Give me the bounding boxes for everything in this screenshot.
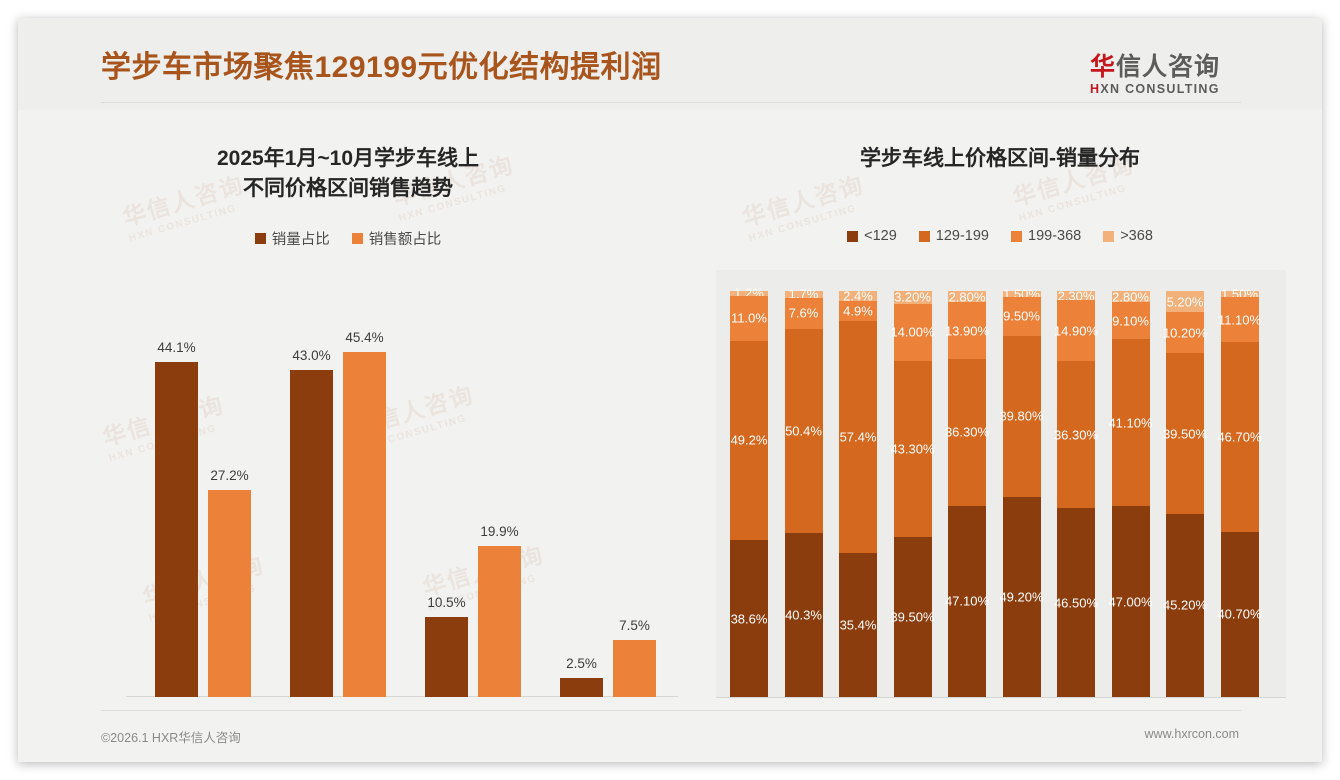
stacked-bar: 1.2%11.0%49.2%38.6%M1 — [730, 291, 768, 697]
bar-column: 7.5% — [613, 317, 656, 697]
stack-segment-label: 14.90% — [1054, 323, 1098, 338]
stack-segment[interactable]: 46.70% — [1221, 342, 1259, 532]
stack-segment-label: 39.50% — [890, 609, 934, 624]
stack-segment-label: 50.4% — [785, 424, 822, 439]
stack-segment[interactable]: 39.50% — [1166, 353, 1204, 513]
stack-segment[interactable]: 36.30% — [948, 359, 986, 506]
stack-segment-label: 41.10% — [1108, 415, 1152, 430]
bar-value-label: 10.5% — [427, 595, 465, 610]
slide-header: 学步车市场聚焦129199元优化结构提利润 华信人咨询 HXN CONSULTI… — [18, 18, 1322, 110]
stack-segment-label: 4.9% — [843, 303, 873, 318]
bar-value-label: 2.5% — [566, 656, 597, 671]
logo-chinese-name: 华信人咨询 — [1090, 54, 1260, 80]
bar-column: 10.5% — [425, 317, 468, 697]
stack-segment-label: 57.4% — [840, 429, 877, 444]
stacked-bar: 2.30%14.90%36.30%46.50%M7 — [1057, 291, 1095, 697]
bar-group: 2.5%7.5%>368（高价位） — [545, 317, 671, 697]
logo-english-name: HXN CONSULTING — [1090, 82, 1260, 96]
stack-segment[interactable]: 47.00% — [1112, 506, 1150, 697]
stack-segment[interactable]: 39.80% — [1003, 336, 1041, 498]
footer-divider — [101, 710, 1241, 711]
bar-value-label: 43.0% — [292, 348, 330, 363]
stack-segment[interactable]: 45.20% — [1166, 514, 1204, 697]
left-chart-title-line1: 2025年1月~10月学步车线上 — [217, 147, 479, 170]
stack-segment-label: 39.50% — [1163, 426, 1207, 441]
right-chart-title: 学步车线上价格区间-销量分布 — [678, 144, 1322, 174]
bar-value-label: 45.4% — [345, 330, 383, 345]
stack-segment[interactable]: 3.20% — [894, 291, 932, 304]
legend-item[interactable]: 销售额占比 — [352, 228, 442, 249]
stack-segment[interactable]: 2.30% — [1057, 291, 1095, 300]
legend-label: 199-368 — [1028, 228, 1081, 244]
stack-segment[interactable]: 46.50% — [1057, 508, 1095, 697]
stack-segment-label: 9.50% — [1003, 309, 1040, 324]
stacked-bar: 1.7%7.6%50.4%40.3%M2 — [785, 291, 823, 697]
stacked-bar: 3.20%14.00%43.30%39.50%M4 — [894, 291, 932, 697]
stack-segment[interactable]: 1.7% — [785, 291, 823, 298]
legend-item[interactable]: 129-199 — [919, 228, 989, 244]
legend-item[interactable]: 199-368 — [1011, 228, 1081, 244]
stack-segment-label: 10.20% — [1163, 325, 1207, 340]
logo-en-rest: XN CONSULTING — [1100, 82, 1219, 96]
stack-segment-label: 45.20% — [1163, 598, 1207, 613]
legend-label: 销售额占比 — [369, 228, 442, 249]
legend-item[interactable]: <129 — [847, 228, 897, 244]
bar-value-label: 19.9% — [480, 524, 518, 539]
stack-segment[interactable]: 13.90% — [948, 302, 986, 358]
stack-segment[interactable]: 5.20% — [1166, 291, 1204, 312]
stack-segment[interactable]: 14.90% — [1057, 300, 1095, 360]
stack-segment[interactable]: 11.0% — [730, 296, 768, 341]
stack-segment-label: 47.00% — [1108, 594, 1152, 609]
stack-segment[interactable]: 14.00% — [894, 304, 932, 361]
left-chart-plot: 44.1%27.2%<129（低价位）43.0%45.4%129-199（中低价… — [126, 270, 678, 710]
stack-segment-label: 36.30% — [945, 425, 989, 440]
bar-column: 27.2% — [208, 317, 251, 697]
bar[interactable] — [425, 617, 468, 697]
bar-column: 45.4% — [343, 317, 386, 697]
stacked-bar: 1.50%11.10%46.70%40.70%M10 — [1221, 291, 1259, 697]
bar-group: 10.5%19.9%199-368（中高价位） — [410, 317, 536, 697]
logo-cn-red: 华 — [1090, 53, 1116, 81]
stack-segment[interactable]: 49.20% — [1003, 497, 1041, 697]
legend-label: 销量占比 — [272, 228, 330, 249]
bar-column: 43.0% — [290, 317, 333, 697]
bar[interactable] — [343, 352, 386, 697]
stack-segment[interactable]: 57.4% — [839, 321, 877, 554]
stack-segment-label: 46.70% — [1217, 429, 1261, 444]
stack-segment-label: 3.20% — [894, 290, 931, 305]
legend-swatch-icon — [352, 233, 363, 244]
stack-segment-label: 49.2% — [731, 433, 768, 448]
stack-segment[interactable]: 10.20% — [1166, 312, 1204, 353]
stack-segment[interactable]: 9.50% — [1003, 297, 1041, 336]
stack-segment[interactable]: 43.30% — [894, 361, 932, 537]
bar[interactable] — [155, 362, 198, 697]
legend-label: >368 — [1120, 228, 1153, 244]
legend-swatch-icon — [255, 233, 266, 244]
stacked-bar: 2.80%13.90%36.30%47.10%M5 — [948, 291, 986, 697]
slide-frame: 学步车市场聚焦129199元优化结构提利润 华信人咨询 HXN CONSULTI… — [18, 18, 1322, 762]
stack-segment[interactable]: 50.4% — [785, 329, 823, 534]
stack-segment[interactable]: 38.6% — [730, 540, 768, 697]
stack-segment-label: 49.20% — [999, 590, 1043, 605]
bar-column: 44.1% — [155, 317, 198, 697]
stack-segment[interactable]: 35.4% — [839, 553, 877, 697]
stack-segment-label: 35.4% — [840, 618, 877, 633]
stack-segment[interactable]: 2.80% — [948, 291, 986, 302]
stack-segment-label: 11.0% — [731, 311, 767, 326]
stack-segment[interactable]: 11.10% — [1221, 297, 1259, 342]
logo-cn-rest: 信人咨询 — [1116, 53, 1220, 81]
stack-segment-label: 46.50% — [1054, 595, 1098, 610]
stack-segment-label: 47.10% — [945, 594, 989, 609]
stack-segment-label: 14.00% — [890, 325, 934, 340]
legend-item[interactable]: 销量占比 — [255, 228, 330, 249]
stack-segment-label: 7.6% — [789, 306, 819, 321]
stack-segment[interactable]: 41.10% — [1112, 339, 1150, 506]
stack-segment[interactable]: 7.6% — [785, 298, 823, 329]
stack-segment[interactable]: 9.10% — [1112, 302, 1150, 339]
right-chart-legend: <129129-199199-368>368 — [678, 228, 1322, 244]
bar[interactable] — [290, 370, 333, 697]
stack-segment-label: 11.10% — [1218, 312, 1261, 327]
bar-group: 44.1%27.2%<129（低价位） — [140, 317, 266, 697]
bar[interactable] — [478, 546, 521, 697]
bar-group: 43.0%45.4%129-199（中低价位） — [275, 317, 401, 697]
slide-footer: ©2026.1 HXR华信人咨询 www.hxrcon.com — [18, 710, 1322, 762]
legend-swatch-icon — [919, 231, 930, 242]
bar-value-label: 7.5% — [619, 618, 650, 633]
stack-segment-label: 40.3% — [785, 608, 822, 623]
bar[interactable] — [560, 678, 603, 697]
stack-segment-label: 36.30% — [1054, 427, 1098, 442]
bar[interactable] — [613, 640, 656, 697]
bar-column: 19.9% — [478, 317, 521, 697]
stack-segment-label: 13.90% — [945, 323, 989, 338]
logo-en-red: H — [1090, 82, 1100, 96]
stack-segment[interactable]: 49.2% — [730, 341, 768, 541]
stack-segment[interactable]: 36.30% — [1057, 361, 1095, 508]
right-chart-panel: 学步车线上价格区间-销量分布 <129129-199199-368>368 1.… — [678, 110, 1322, 710]
stack-segment-label: 9.10% — [1112, 313, 1149, 328]
bar-value-label: 27.2% — [210, 468, 248, 483]
legend-swatch-icon — [1103, 231, 1114, 242]
page-title: 学步车市场聚焦129199元优化结构提利润 — [101, 42, 662, 86]
bar[interactable] — [208, 490, 251, 697]
legend-label: 129-199 — [936, 228, 989, 244]
stack-segment-label: 43.30% — [890, 441, 934, 456]
stack-segment[interactable]: 40.3% — [785, 533, 823, 697]
legend-item[interactable]: >368 — [1103, 228, 1153, 244]
bar-value-label: 44.1% — [157, 340, 195, 355]
stack-segment[interactable]: 40.70% — [1221, 532, 1259, 697]
legend-swatch-icon — [847, 231, 858, 242]
left-chart-panel: 2025年1月~10月学步车线上 不同价格区间销售趋势 销量占比销售额占比 44… — [18, 110, 678, 710]
legend-swatch-icon — [1011, 231, 1022, 242]
left-chart-title-line2: 不同价格区间销售趋势 — [243, 177, 453, 200]
stack-segment-label: 40.70% — [1217, 607, 1261, 622]
stack-segment[interactable]: 47.10% — [948, 506, 986, 697]
stack-segment-label: 38.6% — [731, 611, 768, 626]
company-logo: 华信人咨询 HXN CONSULTING — [1090, 54, 1260, 96]
stacked-bar: 5.20%10.20%39.50%45.20%M9 — [1166, 291, 1204, 697]
bar-column: 2.5% — [560, 317, 603, 697]
stack-segment[interactable]: 39.50% — [894, 537, 932, 697]
stack-segment-label: 39.80% — [999, 409, 1043, 424]
stack-segment[interactable]: 2.4% — [839, 291, 877, 301]
right-chart-plot: 1.2%11.0%49.2%38.6%M11.7%7.6%50.4%40.3%M… — [716, 270, 1286, 710]
stacked-bar: 2.4%4.9%57.4%35.4%M3 — [839, 291, 877, 697]
stacked-bar: 1.50%9.50%39.80%49.20%M6 — [1003, 291, 1041, 697]
left-chart-legend: 销量占比销售额占比 — [18, 228, 678, 249]
stack-segment-label: 5.20% — [1167, 294, 1204, 309]
left-chart-title: 2025年1月~10月学步车线上 不同价格区间销售趋势 — [18, 144, 678, 205]
stacked-bar: 2.80%9.10%41.10%47.00%M8 — [1112, 291, 1150, 697]
footer-website: www.hxrcon.com — [1145, 727, 1239, 741]
footer-copyright: ©2026.1 HXR华信人咨询 — [101, 727, 241, 746]
stack-segment[interactable]: 4.9% — [839, 301, 877, 321]
legend-label: <129 — [864, 228, 897, 244]
header-divider — [101, 102, 1241, 103]
stack-segment[interactable]: 2.80% — [1112, 291, 1150, 302]
right-chart-axis-line — [716, 697, 1286, 698]
